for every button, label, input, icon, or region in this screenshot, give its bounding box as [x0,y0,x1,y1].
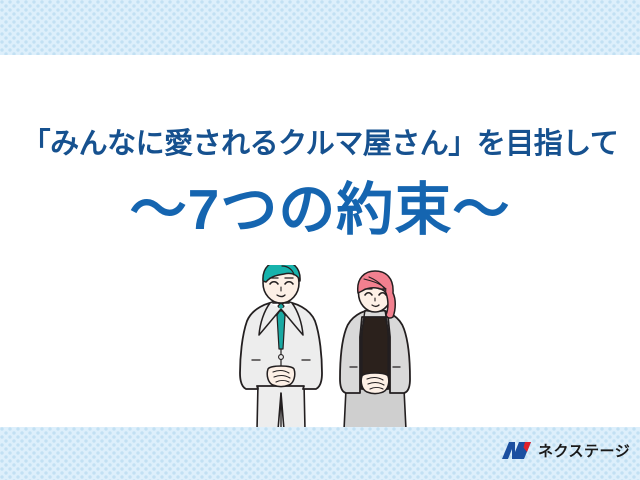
nextage-n-mark [502,441,532,461]
female-staff-figure [340,271,410,430]
clasped-hands [361,373,389,394]
brand-logo: ネクステージ [502,441,630,461]
top-dot-band [0,0,640,55]
male-staff-figure [240,265,322,430]
promotional-banner: 「みんなに愛されるクルマ屋さん」を目指して ～7つの約束～ [0,0,640,480]
necktie [277,309,285,349]
two-bowing-staff-illustration [226,265,438,430]
clasped-hands [267,366,295,387]
page-title: 「みんなに愛されるクルマ屋さん」を目指して [0,127,640,162]
brand-logo-text: ネクステージ [538,444,630,459]
page-subtitle: ～7つの約束～ [0,178,640,244]
